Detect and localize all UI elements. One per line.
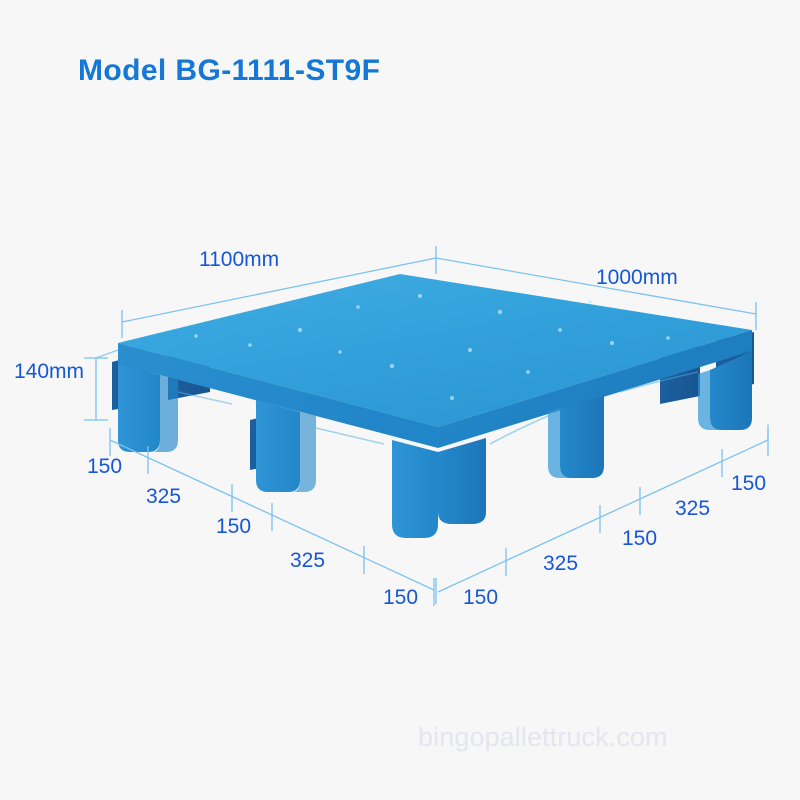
dim-label-left-150-b: 150 — [216, 515, 251, 539]
dim-label-right-325-a: 325 — [543, 552, 578, 576]
site-watermark: bingopallettruck.com — [418, 722, 668, 753]
dim-label-left-150-a: 150 — [87, 455, 122, 479]
diagram-canvas: Model BG-1111-ST9F — [0, 0, 800, 800]
dim-label-left-150-c: 150 — [383, 586, 418, 610]
dim-label-length: 1100mm — [199, 248, 279, 272]
dim-label-right-150-c: 150 — [731, 472, 766, 496]
dim-label-left-325-a: 325 — [146, 485, 181, 509]
dim-label-right-150-a: 150 — [463, 586, 498, 610]
dim-line-chain-right — [438, 440, 768, 592]
dim-label-height: 140mm — [14, 360, 84, 384]
dim-leader-height-top — [96, 350, 118, 358]
dim-label-right-325-b: 325 — [675, 497, 710, 521]
dim-label-left-325-b: 325 — [290, 549, 325, 573]
dim-label-width: 1000mm — [596, 266, 678, 290]
dim-label-right-150-b: 150 — [622, 527, 657, 551]
dimension-lines — [0, 0, 800, 800]
